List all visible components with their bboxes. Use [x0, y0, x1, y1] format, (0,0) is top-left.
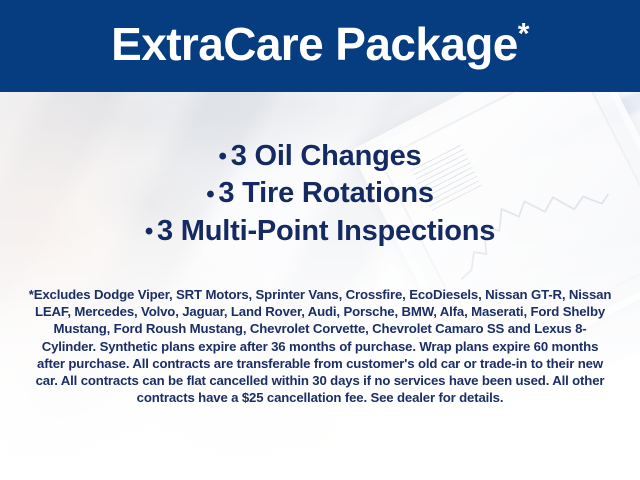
bullet-icon: •	[206, 181, 214, 208]
page-title: ExtraCare Package*	[111, 21, 529, 67]
page-title-text: ExtraCare Package	[111, 18, 518, 70]
benefit-item: •3 Oil Changes	[0, 138, 640, 175]
bullet-icon: •	[145, 218, 153, 245]
benefit-item-label: 3 Oil Changes	[231, 140, 422, 172]
bullet-icon: •	[219, 143, 227, 170]
page-title-asterisk: *	[518, 18, 529, 51]
extracare-package-ad: ExtraCare Package* •3 Oil Changes •3 Tir…	[0, 0, 640, 480]
disclaimer-text: *Excludes Dodge Viper, SRT Motors, Sprin…	[28, 286, 612, 406]
benefit-item-label: 3 Tire Rotations	[218, 177, 433, 209]
header-banner: ExtraCare Package*	[0, 0, 640, 92]
benefits-list: •3 Oil Changes •3 Tire Rotations •3 Mult…	[0, 138, 640, 250]
benefit-item-label: 3 Multi-Point Inspections	[157, 215, 495, 247]
benefit-item: •3 Multi-Point Inspections	[0, 213, 640, 250]
benefit-item: •3 Tire Rotations	[0, 175, 640, 212]
